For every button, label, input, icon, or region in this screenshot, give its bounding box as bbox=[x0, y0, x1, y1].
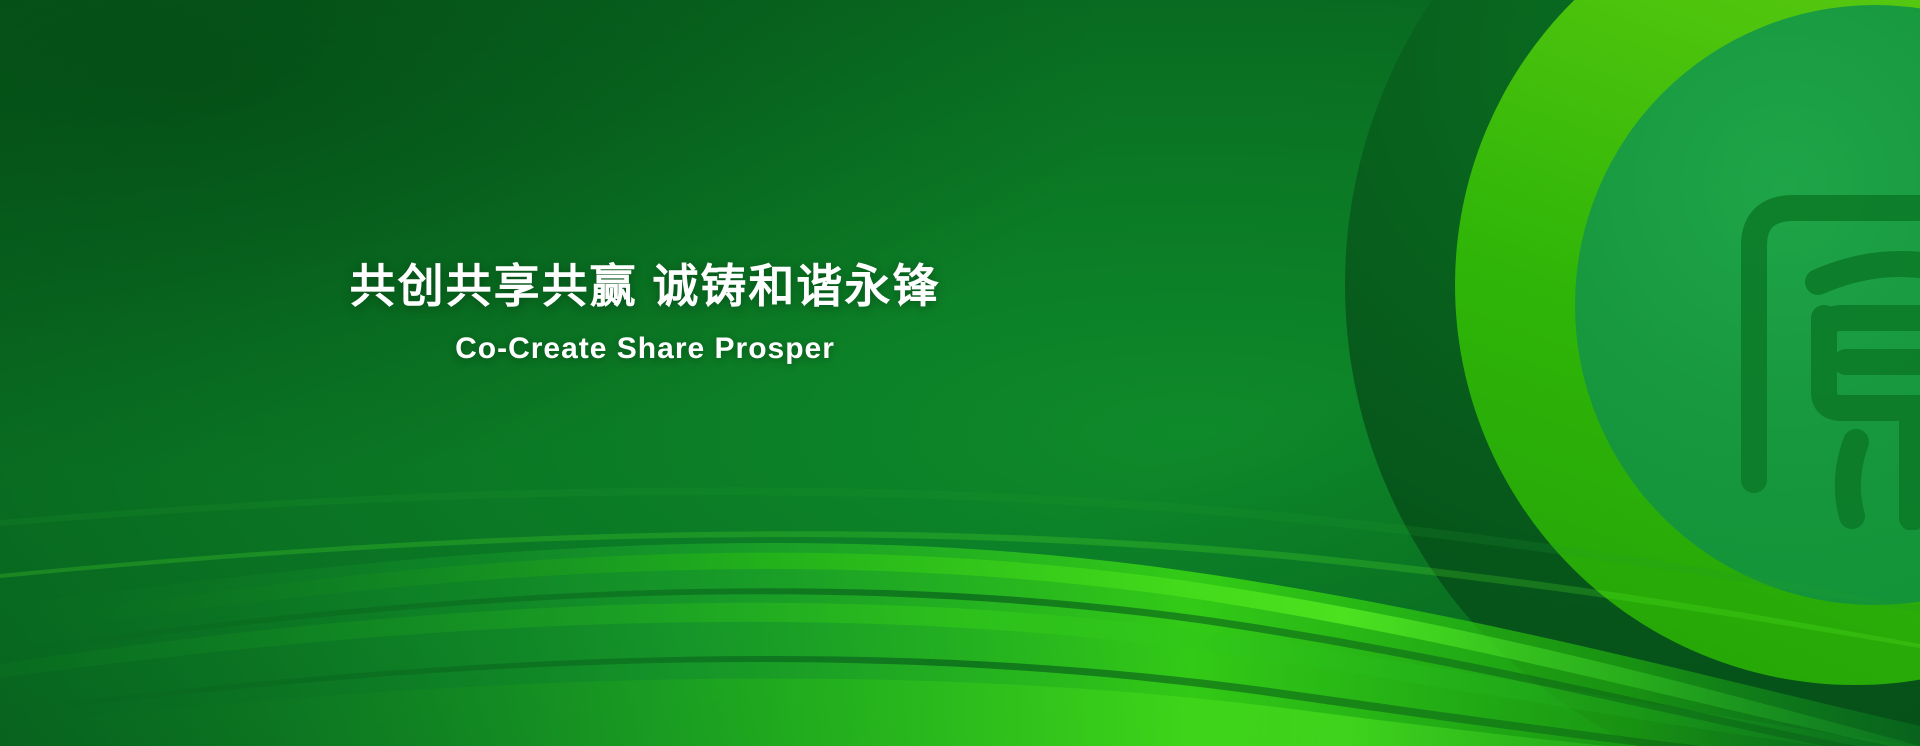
hero-banner: 共创共享共赢 诚铸和谐永锋 Co-Create Share Prosper bbox=[0, 0, 1920, 746]
slogan-main-title: 共创共享共赢 诚铸和谐永锋 bbox=[0, 258, 1290, 316]
slogan-block: 共创共享共赢 诚铸和谐永锋 Co-Create Share Prosper bbox=[0, 258, 1290, 371]
slogan-subtitle: Co-Create Share Prosper bbox=[0, 326, 1290, 371]
